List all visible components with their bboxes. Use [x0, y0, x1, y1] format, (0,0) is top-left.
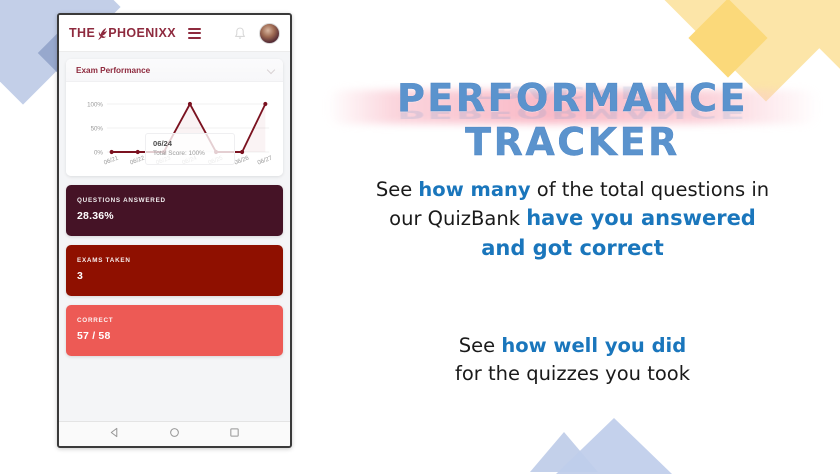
- svg-text:06/21: 06/21: [103, 154, 120, 166]
- hamburger-icon[interactable]: [188, 28, 201, 39]
- back-triangle-icon[interactable]: [109, 425, 120, 443]
- svg-text:0%: 0%: [94, 149, 103, 156]
- phoenix-bird-icon: [96, 27, 109, 41]
- tooltip-score: Total Score: 100%: [153, 150, 227, 158]
- p1-l1-post: of the total questions in: [531, 178, 770, 201]
- phone-mockup: THE PHOENIXX Exam Performance: [57, 13, 292, 448]
- android-navigation-bar: [59, 421, 290, 446]
- p1-l2-pre: our QuizBank: [389, 207, 526, 230]
- paragraph-two: See how well you did for the quizzes you…: [305, 332, 840, 387]
- chevron-right-icon[interactable]: [267, 66, 275, 74]
- p1-l2-highlight: have you answered: [526, 206, 756, 230]
- home-circle-icon[interactable]: [169, 425, 180, 443]
- stat-card-questions-answered[interactable]: QUESTIONS ANSWERED 28.36%: [66, 185, 283, 236]
- avatar[interactable]: [259, 23, 280, 44]
- app-screen: Exam Performance 100% 50% 0%: [59, 52, 290, 421]
- paragraph-two-line-1: See how well you did: [305, 332, 840, 360]
- chart-tooltip: 06/24 Total Score: 100%: [145, 133, 235, 165]
- p1-l1-highlight: how many: [418, 178, 530, 201]
- stat-label: QUESTIONS ANSWERED: [77, 197, 272, 204]
- svg-text:06/22: 06/22: [129, 154, 146, 166]
- recents-square-icon[interactable]: [229, 425, 240, 443]
- p1-l3-highlight: and got correct: [481, 236, 664, 260]
- paragraph-one-line-2: our QuizBank have you answered: [305, 204, 840, 234]
- app-brand-logo: THE PHOENIXX: [69, 26, 176, 40]
- brand-name: PHOENIXX: [108, 26, 176, 40]
- svg-text:50%: 50%: [91, 125, 104, 132]
- page-title: PERFORMANCE TRACKER: [305, 76, 840, 164]
- exam-performance-card-header: Exam Performance: [66, 59, 283, 82]
- slide-title-block: PERFORMANCE TRACKER PERFORMANCE TRACKER: [305, 76, 840, 164]
- p2-l1-pre: See: [459, 334, 502, 357]
- paragraph-two-line-2: for the quizzes you took: [305, 360, 840, 388]
- tooltip-date: 06/24: [153, 139, 227, 148]
- stat-label: CORRECT: [77, 317, 272, 324]
- exam-performance-title: Exam Performance: [76, 66, 150, 75]
- paragraph-one-line-1: See how many of the total questions in: [305, 176, 840, 204]
- paragraph-one-line-3: and got correct: [305, 234, 840, 264]
- stat-card-correct[interactable]: CORRECT 57 / 58: [66, 305, 283, 356]
- svg-text:100%: 100%: [87, 101, 103, 108]
- stat-value: 3: [77, 270, 272, 282]
- app-bar: THE PHOENIXX: [59, 15, 290, 52]
- stat-label: EXAMS TAKEN: [77, 257, 272, 264]
- stat-value: 28.36%: [77, 210, 272, 222]
- stat-card-exams-taken[interactable]: EXAMS TAKEN 3: [66, 245, 283, 296]
- svg-text:06/27: 06/27: [257, 154, 274, 166]
- slide-content: PERFORMANCE TRACKER PERFORMANCE TRACKER …: [305, 0, 840, 472]
- p1-l1-pre: See: [376, 178, 419, 201]
- brand-the: THE: [69, 26, 95, 40]
- p2-l1-highlight: how well you did: [501, 334, 686, 357]
- svg-text:06/26: 06/26: [233, 154, 250, 166]
- paragraph-one: See how many of the total questions in o…: [305, 176, 840, 263]
- bell-icon[interactable]: [234, 27, 246, 40]
- stat-value: 57 / 58: [77, 330, 272, 342]
